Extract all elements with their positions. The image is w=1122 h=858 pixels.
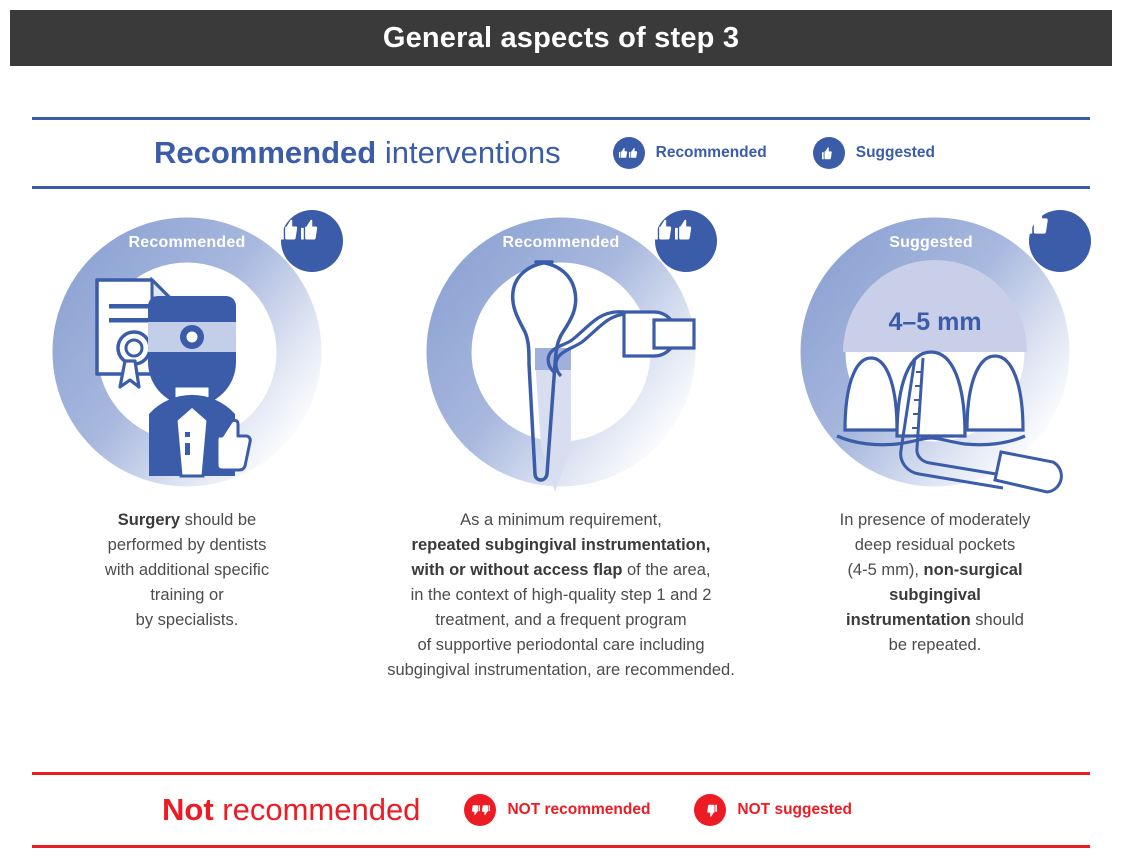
panels-row: Recommended	[0, 196, 1122, 766]
ring-suggested: Suggested 4–5 mm	[785, 200, 1085, 500]
panel-surgery: Recommended	[0, 196, 374, 766]
thumbs-down-icon	[694, 794, 726, 826]
recommended-heading-bold: Recommended	[154, 135, 376, 170]
panel-surgery-art: Recommended	[0, 196, 374, 506]
not-recommended-heading-light: recommended	[214, 792, 421, 827]
pocket-depth-label: 4–5 mm	[888, 308, 981, 336]
panel-instrumentation: Recommended	[374, 196, 748, 766]
recommended-heading-light: interventions	[376, 135, 560, 170]
header-bar: General aspects of step 3	[10, 10, 1112, 66]
legend-label-recommended: Recommended	[656, 144, 767, 162]
not-recommended-heading: Not recommended	[162, 792, 420, 828]
ring-recommended-1: Recommended	[37, 200, 337, 500]
legend-item-not-recommended: NOT recommended	[464, 794, 650, 826]
legend-label-suggested: Suggested	[856, 144, 935, 162]
dentist-with-certificate-icon	[37, 200, 337, 500]
panel-pockets-art: Suggested 4–5 mm	[748, 196, 1122, 506]
divider-red-bottom	[32, 845, 1090, 848]
teeth-with-periodontal-probe-icon: 4–5 mm	[785, 200, 1085, 500]
ring-recommended-2: Recommended	[411, 200, 711, 500]
divider-red-top	[32, 772, 1090, 775]
thumbs-up-icon	[813, 137, 845, 169]
not-recommended-band: Not recommended NOT recommended	[32, 776, 1090, 844]
thumbs-down-double-icon	[464, 794, 496, 826]
legend-item-suggested: Suggested	[813, 137, 935, 169]
legend-label-not-recommended: NOT recommended	[507, 801, 650, 819]
recommended-heading: Recommended interventions	[154, 135, 561, 171]
panel-instrumentation-art: Recommended	[374, 196, 748, 506]
legend-item-recommended: Recommended	[613, 137, 767, 169]
panel-surgery-caption: Surgery should beperformed by dentistswi…	[0, 508, 374, 633]
thumbs-up-double-icon	[613, 137, 645, 169]
legend-label-not-suggested: NOT suggested	[737, 801, 852, 819]
divider-blue-bottom	[32, 186, 1090, 189]
recommended-legend: Recommended Suggested	[613, 137, 935, 169]
panel-instrumentation-caption: As a minimum requirement,repeated subgin…	[374, 508, 748, 683]
tooth-cross-section-with-curette-icon	[411, 200, 711, 500]
infographic-page: General aspects of step 3 Recommended in…	[0, 0, 1122, 858]
not-recommended-heading-bold: Not	[162, 792, 214, 827]
panel-pockets-caption: In presence of moderatelydeep residual p…	[748, 508, 1122, 658]
panel-pockets: Suggested 4–5 mm	[748, 196, 1122, 766]
not-recommended-legend: NOT recommended NOT suggested	[464, 794, 852, 826]
legend-item-not-suggested: NOT suggested	[694, 794, 852, 826]
recommended-band: Recommended interventions Recommended	[32, 120, 1090, 186]
page-title: General aspects of step 3	[383, 22, 739, 55]
